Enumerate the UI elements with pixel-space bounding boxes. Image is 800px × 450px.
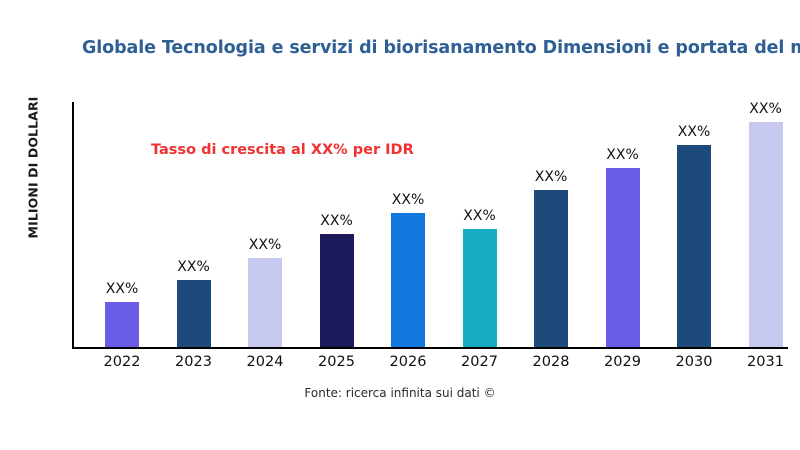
- x-axis-tick-label: 2023: [175, 354, 212, 370]
- bar-group: XX%2031: [749, 102, 783, 347]
- bar-value-label: XX%: [320, 213, 352, 229]
- x-axis-tick-label: 2025: [318, 354, 355, 370]
- bar[interactable]: [749, 122, 783, 347]
- plot-area: XX%2022XX%2023XX%2024XX%2025XX%2026XX%20…: [72, 102, 788, 349]
- bar-group: XX%2026: [391, 102, 425, 347]
- bar-value-label: XX%: [678, 124, 710, 140]
- bar[interactable]: [677, 145, 711, 347]
- bar[interactable]: [177, 280, 211, 347]
- bar-value-label: XX%: [249, 237, 281, 253]
- bar[interactable]: [391, 213, 425, 347]
- growth-rate-annotation: Tasso di crescita al XX% per IDR: [151, 142, 414, 158]
- x-axis-tick-label: 2022: [104, 354, 141, 370]
- bar-value-label: XX%: [106, 281, 138, 297]
- x-axis-tick-label: 2027: [461, 354, 498, 370]
- x-axis-tick-label: 2031: [747, 354, 784, 370]
- bar[interactable]: [606, 168, 640, 347]
- bar-value-label: XX%: [392, 192, 424, 208]
- bar-value-label: XX%: [463, 208, 495, 224]
- bar-group: XX%2030: [677, 102, 711, 347]
- x-axis-tick-label: 2026: [390, 354, 427, 370]
- bar-group: XX%2029: [606, 102, 640, 347]
- y-axis-label: MILIONI DI DOLLARI: [26, 73, 41, 263]
- y-axis-line: [72, 102, 74, 349]
- bar-value-label: XX%: [535, 169, 567, 185]
- chart-screenshot: Globale Tecnologia e servizi di biorisan…: [0, 0, 800, 450]
- chart-title: Globale Tecnologia e servizi di biorisan…: [82, 38, 800, 58]
- bar-value-label: XX%: [606, 147, 638, 163]
- x-axis-tick-label: 2030: [676, 354, 713, 370]
- bar-group: XX%2024: [248, 102, 282, 347]
- bar[interactable]: [534, 190, 568, 347]
- bar[interactable]: [463, 229, 497, 347]
- bar-group: XX%2028: [534, 102, 568, 347]
- bar-value-label: XX%: [749, 101, 781, 117]
- bar-value-label: XX%: [177, 259, 209, 275]
- x-axis-tick-label: 2024: [247, 354, 284, 370]
- bar-group: XX%2027: [463, 102, 497, 347]
- bar[interactable]: [248, 258, 282, 347]
- bar-group: XX%2025: [320, 102, 354, 347]
- bar-group: XX%2023: [177, 102, 211, 347]
- bar-group: XX%2022: [105, 102, 139, 347]
- x-axis-tick-label: 2028: [533, 354, 570, 370]
- x-axis-tick-label: 2029: [604, 354, 641, 370]
- source-note: Fonte: ricerca infinita sui dati ©: [0, 386, 800, 400]
- bar[interactable]: [320, 234, 354, 347]
- x-axis-line: [72, 347, 788, 349]
- bar[interactable]: [105, 302, 139, 347]
